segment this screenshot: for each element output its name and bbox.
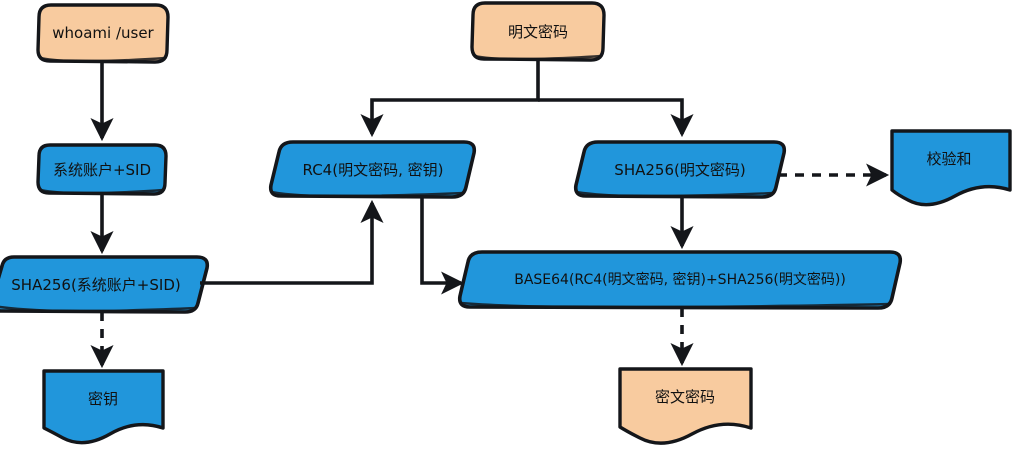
edge-plaintext-bus: [372, 60, 538, 134]
node-sha256-plaintext[interactable]: [576, 142, 785, 197]
node-whoami[interactable]: [38, 5, 168, 62]
node-key[interactable]: [44, 371, 163, 443]
edge-plaintext-to-sha256: [538, 100, 682, 134]
edge-sha256-account-sid-to-rc4: [200, 203, 372, 283]
flowchart-canvas: whoami /user 明文密码 系统账户+SID RC4(明文密码, 密钥)…: [0, 0, 1012, 452]
node-plaintext-password[interactable]: [472, 3, 604, 60]
node-ciphertext-password[interactable]: [620, 369, 751, 443]
flowchart-graphics: [0, 0, 1012, 452]
node-checksum[interactable]: [892, 131, 1010, 205]
edge-rc4-to-base64: [422, 197, 461, 283]
node-base64[interactable]: [460, 252, 901, 308]
node-account-sid[interactable]: [38, 145, 166, 194]
node-rc4[interactable]: [271, 142, 475, 197]
node-sha256-account-sid[interactable]: [0, 257, 207, 312]
